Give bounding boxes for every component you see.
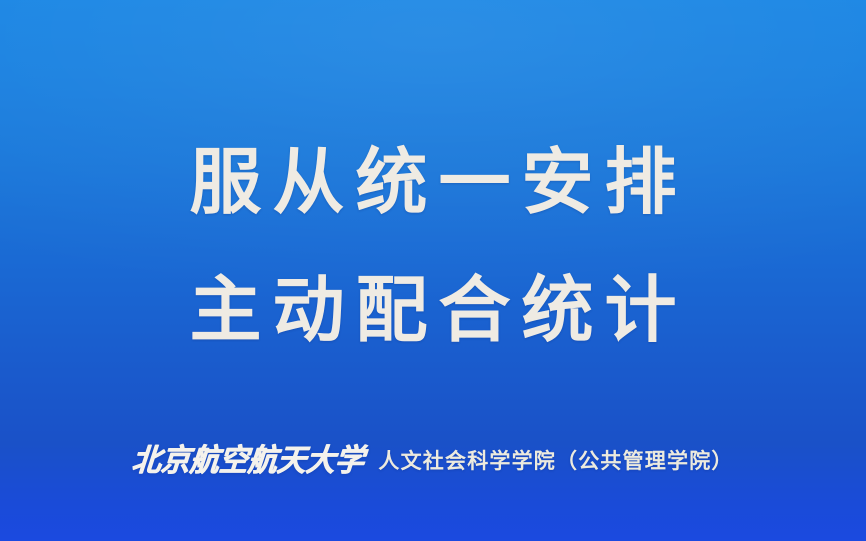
slide-content: 服从统一安排 主动配合统计 北京航空航天大学 人文社会科学学院（公共管理学院） xyxy=(0,0,866,541)
slide-canvas: 服从统一安排 主动配合统计 北京航空航天大学 人文社会科学学院（公共管理学院） xyxy=(0,0,866,541)
footer-lockup: 北京航空航天大学 人文社会科学学院（公共管理学院） xyxy=(0,446,866,475)
university-school-name: 人文社会科学学院（公共管理学院） xyxy=(378,450,733,471)
headline-line-2: 主动配合统计 xyxy=(0,274,866,346)
university-logo-wordmark: 北京航空航天大学 xyxy=(131,445,366,476)
headline-line-1: 服从统一安排 xyxy=(0,146,866,218)
headline-block: 服从统一安排 主动配合统计 xyxy=(0,146,866,346)
